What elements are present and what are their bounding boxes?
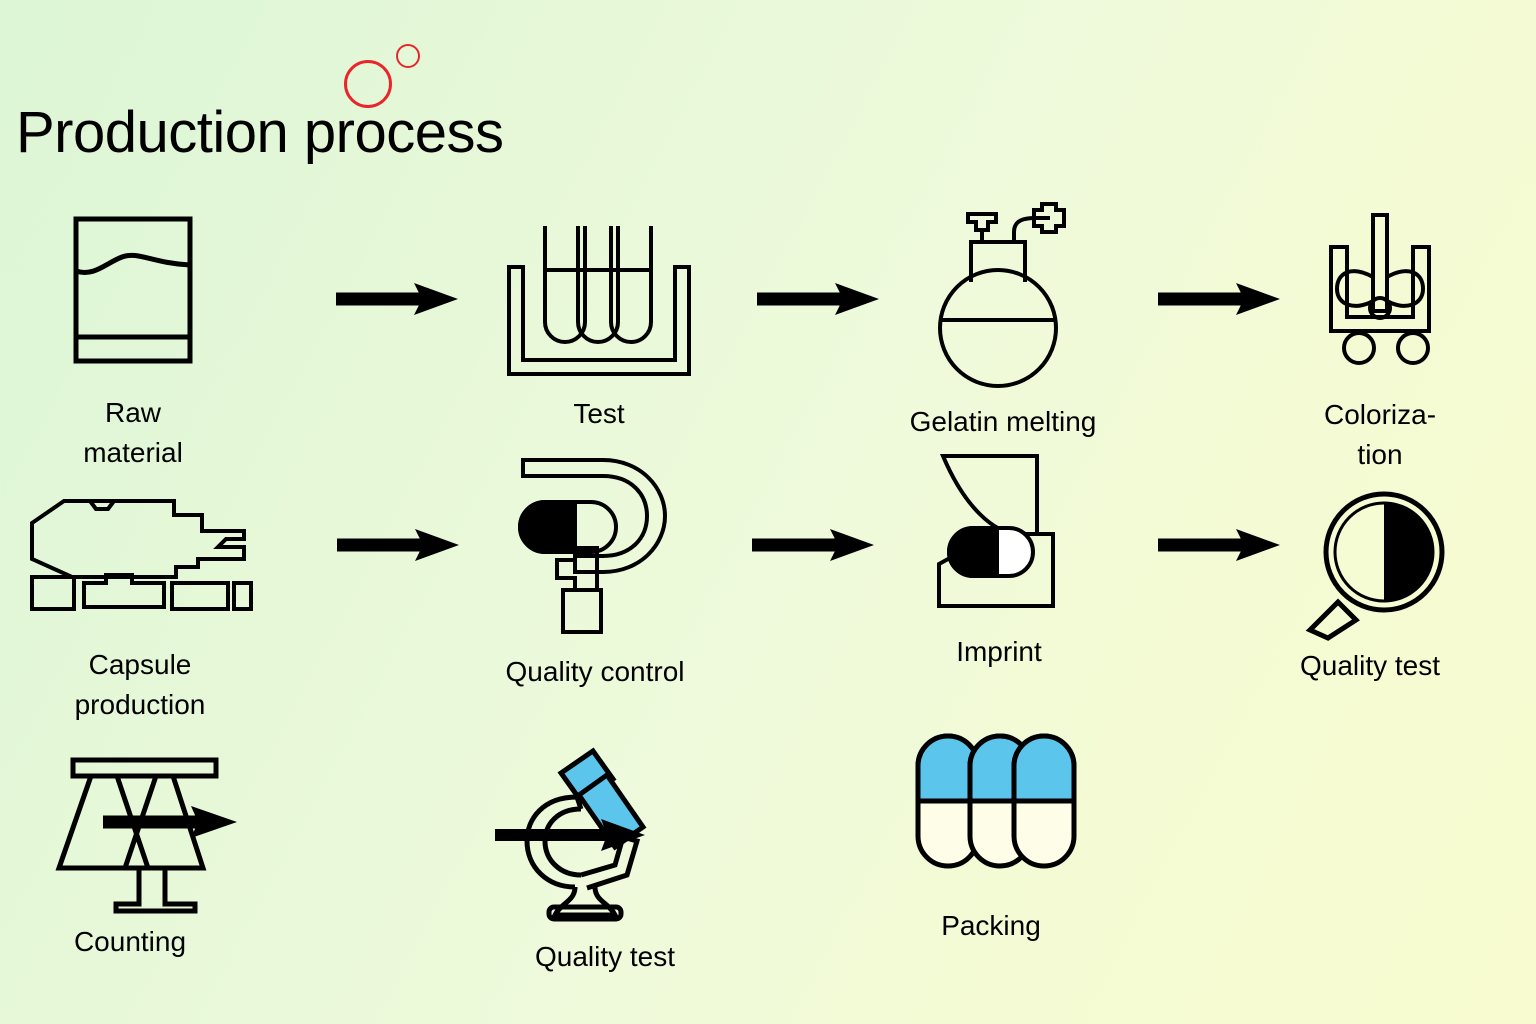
- step-label-colorization: Coloriza- tion: [1220, 395, 1536, 475]
- step-counting[interactable]: Counting: [55, 756, 245, 911]
- test-tube-rack-icon: [505, 222, 693, 378]
- diagram-canvas: Production process Raw material: [0, 0, 1536, 1024]
- step-label-quality-control: Quality control: [435, 652, 755, 692]
- step-label-raw-material: Raw material: [0, 393, 293, 473]
- step-quality-control[interactable]: Quality control: [519, 456, 671, 636]
- step-imprint[interactable]: Imprint: [935, 452, 1063, 612]
- step-label-capsule-production: Capsule production: [0, 645, 300, 725]
- arrow-qc-to-imprint: [752, 527, 874, 563]
- balance-scale-icon: [55, 756, 245, 911]
- step-quality-test-microscope[interactable]: Quality test: [495, 745, 695, 920]
- arrow-capsule-to-qc: [337, 527, 459, 563]
- step-label-imprint: Imprint: [839, 632, 1159, 672]
- step-raw-material[interactable]: Raw material: [72, 215, 194, 365]
- mixing-vat-icon: [1313, 215, 1447, 370]
- round-flask-icon: [938, 210, 1068, 395]
- arrow-gelatin-to-colorization: [1158, 281, 1280, 317]
- arrow-imprint-to-quality-test: [1158, 527, 1280, 563]
- arrow-raw-to-test: [336, 281, 458, 317]
- step-label-gelatin-melting: Gelatin melting: [843, 402, 1163, 442]
- step-label-counting: Counting: [0, 922, 290, 962]
- step-packing[interactable]: Packing: [912, 730, 1080, 875]
- micrometer-icon: [519, 456, 671, 636]
- arrow-test-to-gelatin: [757, 281, 879, 317]
- material-bag-icon: [72, 215, 194, 365]
- step-label-packing: Packing: [831, 906, 1151, 946]
- step-label-test: Test: [439, 394, 759, 434]
- step-test[interactable]: Test: [505, 222, 693, 378]
- step-label-quality-test-lens: Quality test: [1210, 646, 1530, 686]
- capsules-icon: [912, 730, 1080, 875]
- microscope-icon: [495, 745, 695, 920]
- step-label-quality-test-microscope: Quality test: [445, 937, 765, 977]
- red-circle-small-icon: [396, 44, 420, 68]
- step-capsule-production[interactable]: Capsule production: [26, 497, 254, 611]
- capsule-machine-icon: [26, 497, 254, 611]
- step-colorization[interactable]: Coloriza- tion: [1313, 215, 1447, 370]
- magnifier-icon: [1300, 490, 1440, 640]
- step-quality-test-lens[interactable]: Quality test: [1300, 490, 1440, 640]
- step-gelatin-melting[interactable]: Gelatin melting: [938, 210, 1068, 395]
- page-title: Production process: [16, 104, 503, 162]
- imprint-press-icon: [935, 452, 1063, 612]
